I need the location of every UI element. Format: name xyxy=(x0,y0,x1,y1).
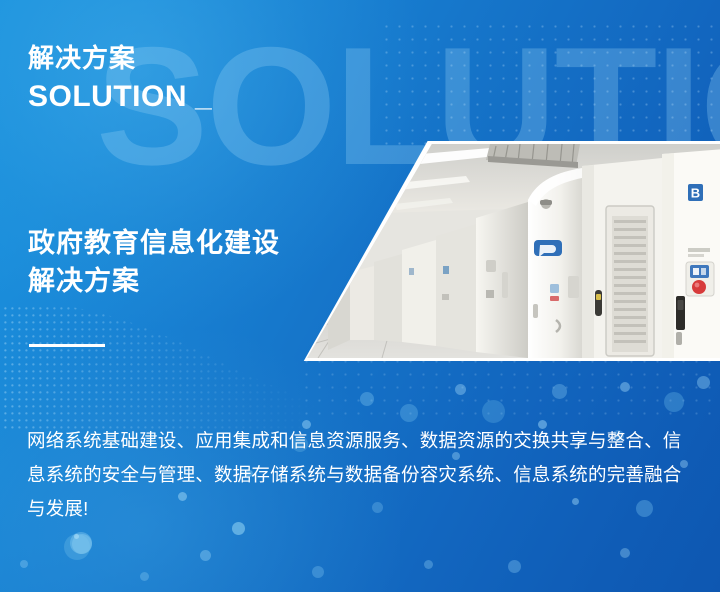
bokeh-circle xyxy=(482,400,505,423)
bokeh-circle xyxy=(20,560,28,568)
dot-grid-decoration xyxy=(380,20,720,145)
bokeh-circle xyxy=(64,534,90,560)
eyebrow-cn-label: 解决方案 xyxy=(28,42,212,75)
bokeh-circle xyxy=(312,566,324,578)
bokeh-circle xyxy=(664,392,684,412)
title-divider xyxy=(29,344,105,347)
bokeh-circle xyxy=(400,404,418,422)
bokeh-circle xyxy=(424,560,433,569)
bokeh-circle xyxy=(552,384,567,399)
dotted-wave-decoration xyxy=(0,300,320,430)
bokeh-circle xyxy=(620,548,630,558)
dot-grid-decoration-lower xyxy=(300,355,720,415)
eyebrow-en-label: SOLUTION_ xyxy=(28,77,212,116)
bokeh-circle xyxy=(620,382,630,392)
svg-text:B: B xyxy=(691,186,700,201)
bokeh-circle xyxy=(455,384,466,395)
bokeh-circle xyxy=(200,550,211,561)
bokeh-circle xyxy=(508,560,521,573)
bokeh-circle xyxy=(74,534,79,539)
solution-banner: SOLUTION 解决方案 SOLUTION_ 政府教育信息化建设 解决方案 xyxy=(0,0,720,592)
body-paragraph: 网络系统基础建设、应用集成和信息资源服务、数据资源的交换共享与整合、信息系统的安… xyxy=(27,424,699,527)
bokeh-circle xyxy=(140,572,149,581)
bokeh-circle xyxy=(697,376,710,389)
bokeh-circle xyxy=(70,532,92,554)
page-title-line1: 政府教育信息化建设 xyxy=(28,228,280,258)
page-title-line2: 解决方案 xyxy=(28,262,358,300)
page-title: 政府教育信息化建设 解决方案 xyxy=(28,224,358,301)
bokeh-circle xyxy=(72,534,92,554)
eyebrow-en-text: SOLUTION xyxy=(28,80,187,113)
bokeh-circle xyxy=(360,392,374,406)
eyebrow-block: 解决方案 SOLUTION_ xyxy=(28,42,212,116)
eyebrow-underscore: _ xyxy=(195,77,212,116)
